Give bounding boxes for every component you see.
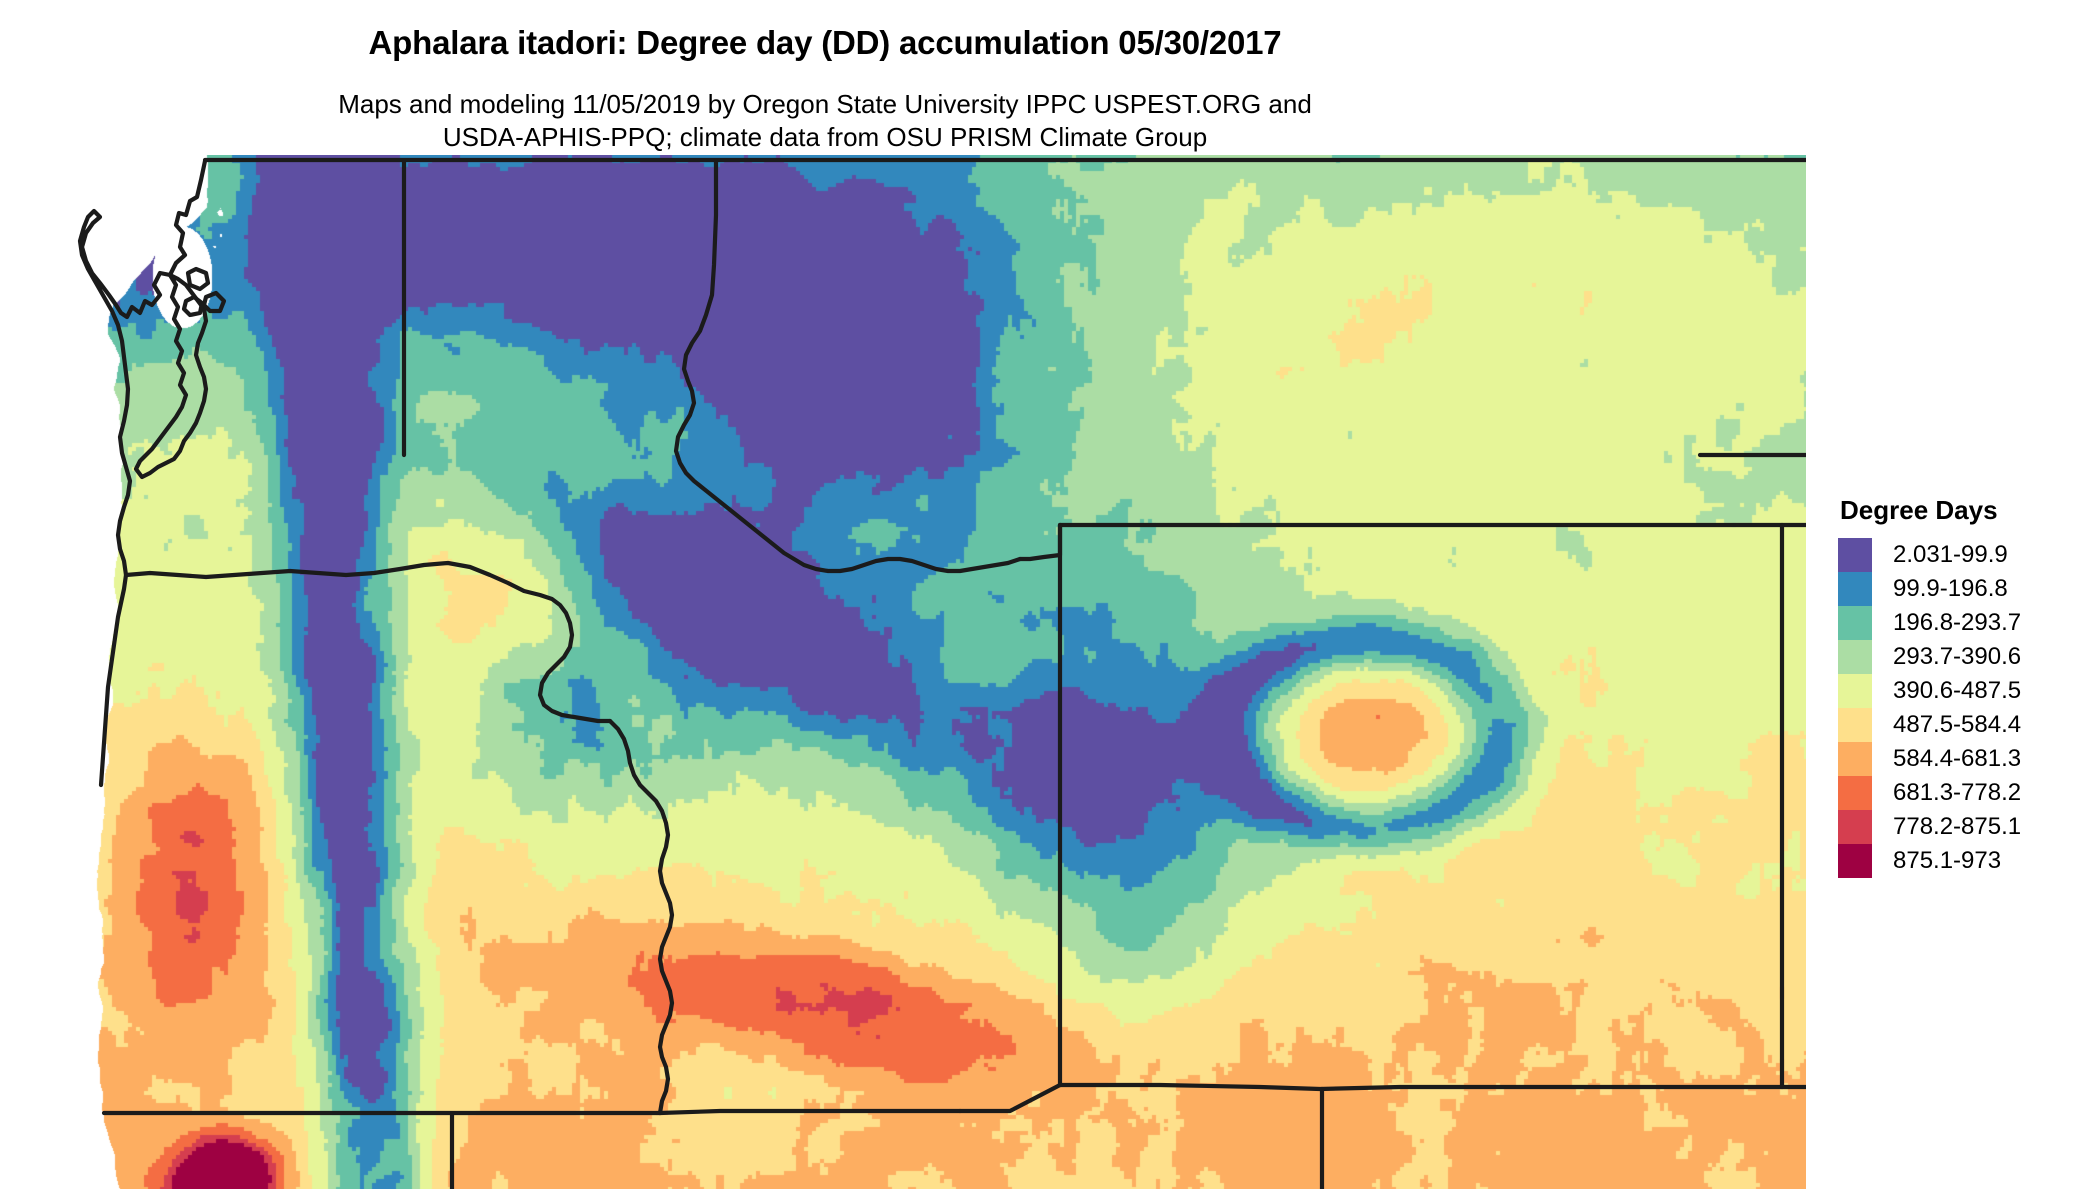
legend-color-swatch	[1838, 708, 1872, 742]
legend-color-swatch	[1838, 572, 1872, 606]
legend-label: 584.4-681.3	[1893, 742, 2021, 776]
border-or-id	[610, 721, 672, 1113]
border-id-mt	[676, 161, 1020, 571]
legend: Degree Days 2.031-99.999.9-196.8196.8-29…	[1838, 495, 2100, 878]
page-subtitle: Maps and modeling 11/05/2019 by Oregon S…	[0, 88, 1650, 154]
legend-label: 293.7-390.6	[1893, 640, 2021, 674]
border-id-wy	[1020, 525, 1060, 559]
legend-color-swatch	[1838, 810, 1872, 844]
legend-label: 487.5-584.4	[1893, 708, 2021, 742]
state-borders-overlay	[0, 155, 1806, 1189]
legend-label: 99.9-196.8	[1893, 572, 2008, 606]
page-title: Aphalara itadori: Degree day (DD) accumu…	[0, 24, 1650, 62]
legend-row: 487.5-584.4	[1838, 708, 2100, 742]
border-wa-or	[126, 563, 610, 721]
subtitle-line-2: USDA-APHIS-PPQ; climate data from OSU PR…	[0, 121, 1650, 154]
border-island-2	[184, 297, 202, 315]
map-panel	[0, 155, 1806, 1189]
legend-label: 2.031-99.9	[1893, 538, 2008, 572]
legend-row: 2.031-99.9	[1838, 538, 2100, 572]
legend-row: 293.7-390.6	[1838, 640, 2100, 674]
legend-row: 196.8-293.7	[1838, 606, 2100, 640]
legend-title: Degree Days	[1840, 495, 2100, 526]
legend-color-swatch	[1838, 606, 1872, 640]
legend-label: 681.3-778.2	[1893, 776, 2021, 810]
legend-color-swatch	[1838, 674, 1872, 708]
legend-row: 99.9-196.8	[1838, 572, 2100, 606]
legend-row: 390.6-487.5	[1838, 674, 2100, 708]
legend-color-swatch	[1838, 538, 1872, 572]
border-ut-north	[960, 1085, 1060, 1111]
legend-row: 584.4-681.3	[1838, 742, 2100, 776]
degree-day-map-page: Aphalara itadori: Degree day (DD) accumu…	[0, 0, 2100, 1189]
legend-color-swatch	[1838, 776, 1872, 810]
border-puget-sound	[136, 275, 206, 477]
border-island-1	[188, 269, 208, 289]
legend-row: 875.1-973	[1838, 844, 2100, 878]
legend-color-swatch	[1838, 844, 1872, 878]
border-wy-south	[1060, 1085, 1806, 1089]
legend-label: 875.1-973	[1893, 844, 2001, 878]
legend-color-swatch	[1838, 742, 1872, 776]
border-island-3	[204, 293, 224, 311]
legend-label: 390.6-487.5	[1893, 674, 2021, 708]
legend-row: 778.2-875.1	[1838, 810, 2100, 844]
legend-label: 778.2-875.1	[1893, 810, 2021, 844]
border-id-south	[660, 1111, 960, 1113]
legend-label: 196.8-293.7	[1893, 606, 2021, 640]
subtitle-line-1: Maps and modeling 11/05/2019 by Oregon S…	[0, 88, 1650, 121]
legend-row: 681.3-778.2	[1838, 776, 2100, 810]
legend-items: 2.031-99.999.9-196.8196.8-293.7293.7-390…	[1838, 538, 2100, 878]
border-wa-coast	[80, 161, 205, 785]
legend-color-swatch	[1838, 640, 1872, 674]
